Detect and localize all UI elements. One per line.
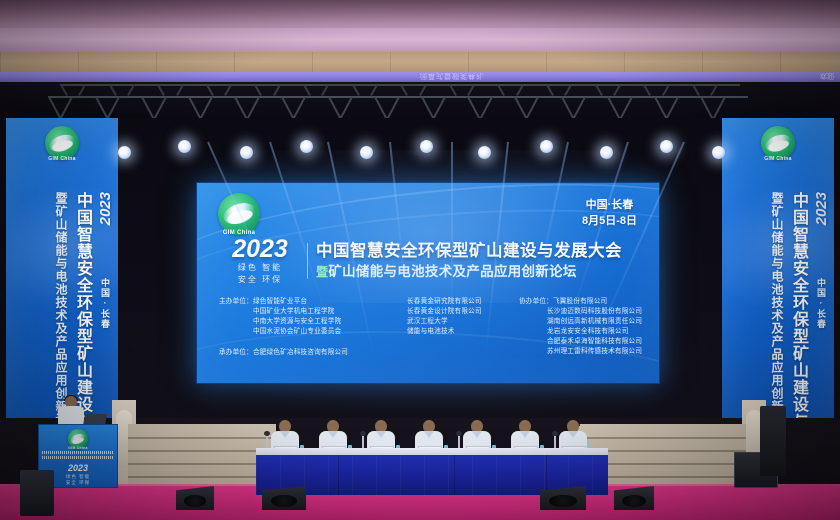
organizer-item: 武汉工程大学: [407, 317, 482, 327]
co-organizer-col: 协办单位：飞翼股份有限公司 长沙迪迈数码科技股份有限公司 湖南创远高新机械有限责…: [519, 297, 643, 357]
floor-moving-head-light: [612, 423, 628, 446]
upper-led-strip-text: 闭幕式暨颁奖典礼: [420, 72, 484, 81]
stage-par-light: [478, 146, 491, 159]
ceiling-light-band: [0, 28, 840, 54]
conference-stage-photo: 闭幕式暨颁奖典礼 欢迎 GIM China 2023 中国·长春 中国智慧安全环…: [0, 0, 840, 520]
co-organizer-label: 协办单位：: [519, 298, 553, 305]
undertaker-line: 承办单位：合肥绿色矿冶科技咨询有限公司: [219, 346, 348, 356]
banner-right-title-main: 中国智慧安全环保型矿山建设与发展大会: [786, 192, 810, 448]
upper-led-strip-text-right: 欢迎: [820, 72, 834, 81]
podium-logo-caption: GIM China: [61, 446, 95, 450]
co-organizer-list: 协办单位：飞翼股份有限公司 长沙迪迈数码科技股份有限公司 湖南创远高新机械有限责…: [519, 297, 642, 357]
event-slogan-line1: 绿色 智能: [221, 262, 299, 273]
co-organizer-item: 龙岩龙安安全科技有限公司: [519, 327, 642, 337]
podium-logo-icon: GIM China: [61, 429, 95, 453]
moving-head-light: [320, 120, 335, 142]
light-beam: [451, 142, 453, 322]
banner-right-city: 中国·长春: [815, 278, 828, 329]
upper-led-strip: 闭幕式暨颁奖典礼 欢迎: [0, 72, 840, 82]
floor-moving-head-light: [228, 423, 244, 446]
organizer-list-2: 长春黄金研究院有限公司 长春黄金设计院有限公司 武汉工程大学 储能与电池技术: [407, 297, 482, 357]
organizer-col-2: 长春黄金研究院有限公司 长春黄金设计院有限公司 武汉工程大学 储能与电池技术: [407, 297, 519, 357]
event-title-sub-prefix: 暨: [316, 265, 328, 279]
floor-moving-head-light: [696, 451, 712, 474]
stage-par-light: [300, 140, 313, 153]
co-organizer-first-line: 协办单位：飞翼股份有限公司: [519, 297, 642, 307]
moving-head-light: [500, 120, 515, 142]
banner-left-city: 中国·长春: [99, 278, 112, 329]
undertaker-label: 承办单位：: [219, 349, 253, 356]
pa-speaker: [20, 470, 54, 516]
banner-right-title-sub: 暨矿山储能与电池技术及产品应用创新论坛: [769, 192, 786, 439]
floor-moving-head-light: [668, 441, 684, 464]
co-organizer-item: 飞翼股份有限公司: [553, 298, 607, 305]
organizer-item: 绿色智能矿业平台: [253, 297, 341, 307]
moving-head-light: [262, 120, 277, 142]
pa-speaker: [760, 406, 786, 476]
moving-head-light: [620, 120, 635, 142]
stage-par-light: [118, 146, 131, 159]
organizer-item: 长春黄金研究院有限公司: [407, 297, 482, 307]
event-slogan-line2: 安全 环保: [221, 274, 299, 285]
organizer-item: 中国水泥协会矿山专业委员会: [253, 327, 341, 337]
moving-head-light: [200, 120, 215, 142]
organizer-item: 中国矿业大学机电工程学院: [253, 307, 341, 317]
stage-par-light: [660, 140, 673, 153]
moving-head-light: [676, 120, 691, 142]
stage-par-light: [712, 146, 725, 159]
stage-par-light: [540, 140, 553, 153]
organizer-item: 储能与电池技术: [407, 327, 482, 337]
banner-right: GIM China 2023 中国·长春 中国智慧安全环保型矿山建设与发展大会 …: [722, 118, 834, 448]
banner-left-year: 2023: [97, 192, 114, 225]
banner-right-logo-icon: GIM China: [755, 126, 801, 166]
moving-head-light: [382, 120, 397, 142]
event-title-row: 2023 绿色 智能 安全 环保 中国智慧安全环保型矿山建设与发展大会 暨矿山储…: [221, 237, 641, 285]
floor-moving-head-light: [150, 451, 166, 474]
moving-head-light: [560, 120, 575, 142]
event-title-sub-wrap: 暨矿山储能与电池技术及产品应用创新论坛: [316, 263, 641, 281]
moving-head-light: [444, 120, 459, 142]
stage-par-light: [600, 146, 613, 159]
organizer-item: 中南大学资源与安全工程学院: [253, 317, 341, 327]
undertaker-value: 合肥绿色矿冶科技咨询有限公司: [253, 349, 348, 356]
floor-moving-head-light: [640, 431, 656, 454]
banner-right-year: 2023: [813, 192, 830, 225]
organizer-item: 长春黄金设计院有限公司: [407, 307, 482, 317]
banner-left-logo-caption: GIM China: [39, 156, 85, 162]
co-organizer-item: 湖南创远高新机械有限责任公司: [519, 317, 642, 327]
stage-par-light: [178, 140, 191, 153]
podium-title-line-2: [42, 456, 114, 459]
banner-right-logo-caption: GIM China: [755, 156, 801, 162]
main-led-screen: GIM China 中国·长春 8月5日-8日 2023 绿色 智能 安全 环保…: [196, 182, 660, 384]
co-organizer-item: 长沙迪迈数码科技股份有限公司: [519, 307, 642, 317]
floor-moving-head-light: [176, 439, 192, 462]
co-organizer-item: 苏州理工雷科传感技术有限公司: [519, 347, 642, 357]
event-dates: 8月5日-8日: [582, 213, 637, 229]
banner-left-logo-icon: GIM China: [39, 126, 85, 166]
stage-par-light: [360, 146, 373, 159]
co-organizer-item: 合肥泰禾卓海智能科技有限公司: [519, 337, 642, 347]
stage-par-light: [240, 146, 253, 159]
podium-title-line-1: [42, 451, 114, 454]
stage-par-light: [420, 140, 433, 153]
floor-moving-head-light: [202, 429, 218, 452]
